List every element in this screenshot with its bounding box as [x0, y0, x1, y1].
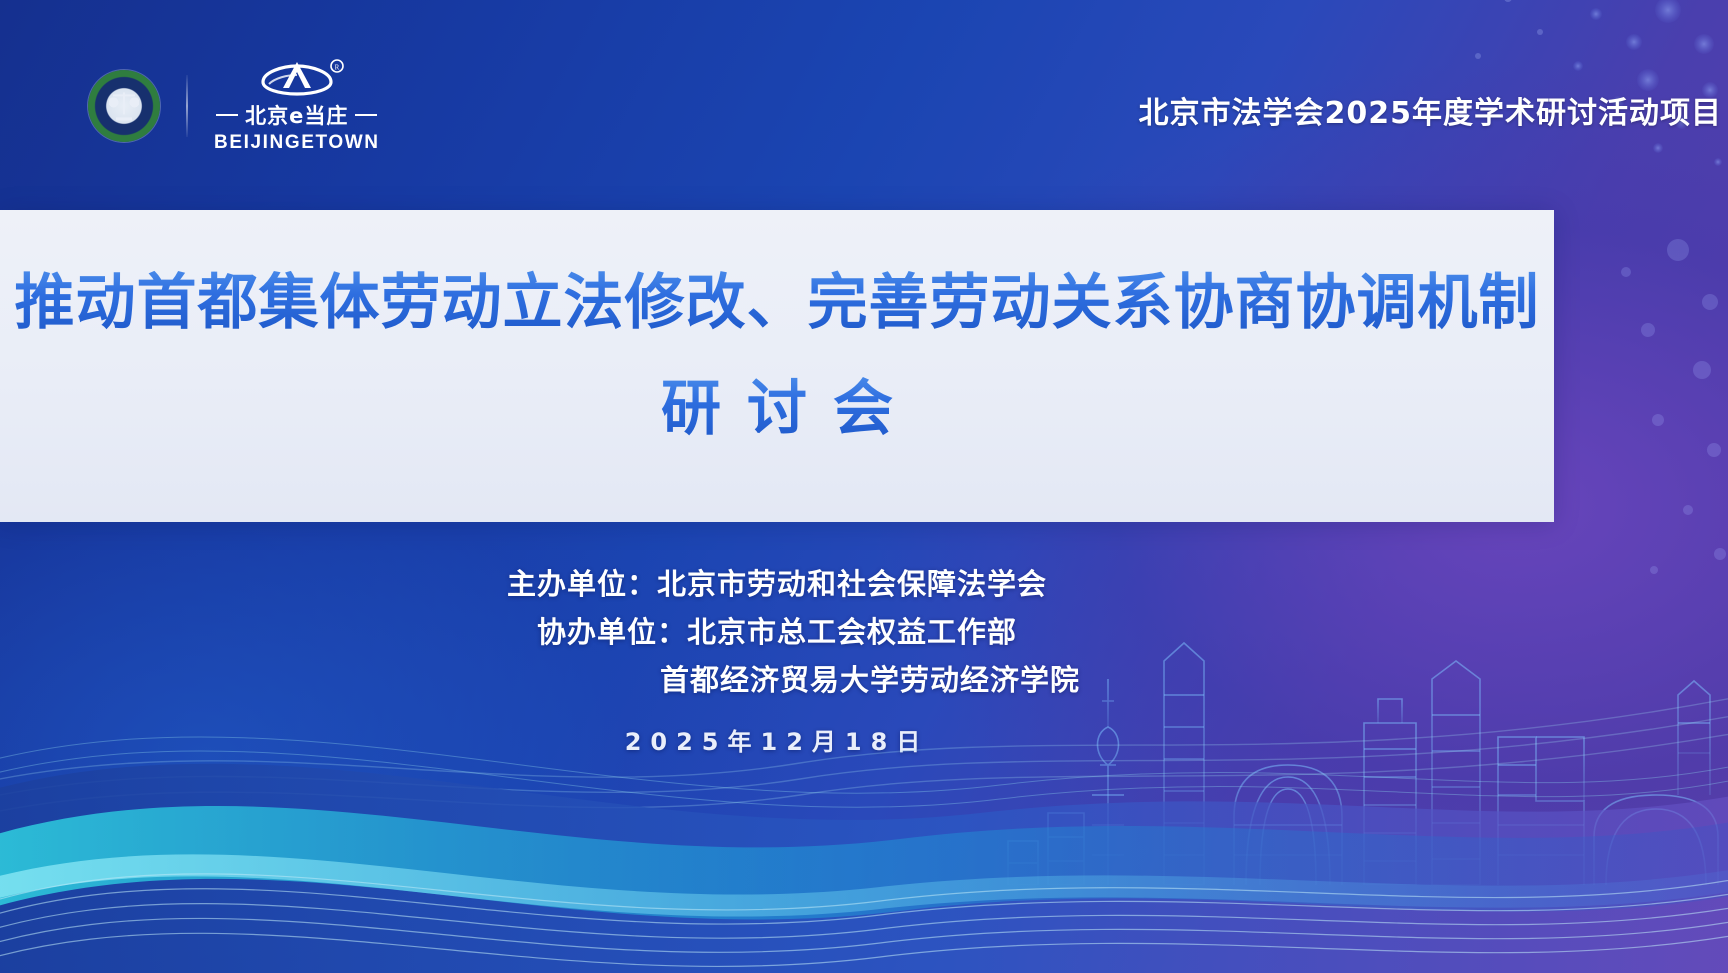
page-title-line1: 推动首都集体劳动立法修改、完善劳动关系协商协调机制: [0, 254, 1554, 341]
wordmark-en: BEIJINGETOWN: [214, 132, 380, 154]
wordmark-bar-left: [216, 114, 238, 116]
beijing-law-society-emblem-icon: [88, 70, 160, 142]
title-panel: 推动首都集体劳动立法修改、完善劳动关系协商协调机制 研讨会: [0, 210, 1554, 522]
poster-header: R 北京e当庄 BEIJINGETOWN 北京市法学会2025年度学术研讨活动项…: [0, 0, 1728, 200]
organizer-block: 主办单位：北京市劳动和社会保障法学会 协办单位：北京市总工会权益工作部 首都经济…: [0, 560, 1554, 757]
beijingetown-wordmark: R 北京e当庄 BEIJINGETOWN: [214, 58, 380, 154]
beijingetown-mark-icon: R: [249, 58, 345, 98]
header-project-title: 北京市法学会2025年度学术研讨活动项目: [1139, 88, 1723, 132]
host-line: 主办单位：北京市劳动和社会保障法学会: [0, 560, 1554, 608]
wordmark-cn: 北京e当庄: [216, 100, 377, 130]
cohost-line-2: 首都经济贸易大学劳动经济学院: [0, 656, 1554, 704]
cohost-line-1: 协办单位：北京市总工会权益工作部: [0, 608, 1554, 656]
event-date: 2025年12月18日: [0, 722, 1554, 757]
page-title-line2: 研讨会: [0, 360, 1554, 447]
logo-block: R 北京e当庄 BEIJINGETOWN: [88, 58, 380, 154]
svg-text:R: R: [334, 64, 339, 72]
poster-canvas: R 北京e当庄 BEIJINGETOWN 北京市法学会2025年度学术研讨活动项…: [0, 0, 1728, 973]
logo-divider: [186, 75, 188, 137]
wordmark-cn-text: 北京e当庄: [245, 100, 348, 130]
wordmark-bar-right: [355, 114, 377, 116]
